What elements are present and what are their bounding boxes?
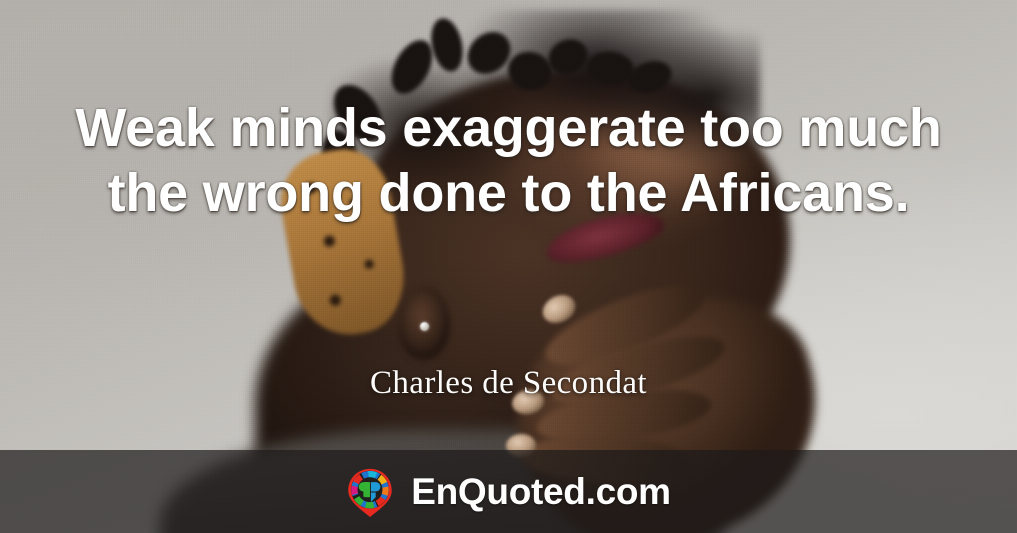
quote-image-card: Weak minds exaggerate too much the wrong… xyxy=(0,0,1017,533)
quote-author: Charles de Secondat xyxy=(0,365,1017,402)
quote-text: Weak minds exaggerate too much the wrong… xyxy=(48,96,969,226)
brand-name[interactable]: EnQuoted.com xyxy=(411,471,671,513)
quote-block: Weak minds exaggerate too much the wrong… xyxy=(0,96,1017,226)
footer-bar: EnQuoted.com xyxy=(0,450,1017,533)
enquoted-logo-icon xyxy=(346,466,394,518)
